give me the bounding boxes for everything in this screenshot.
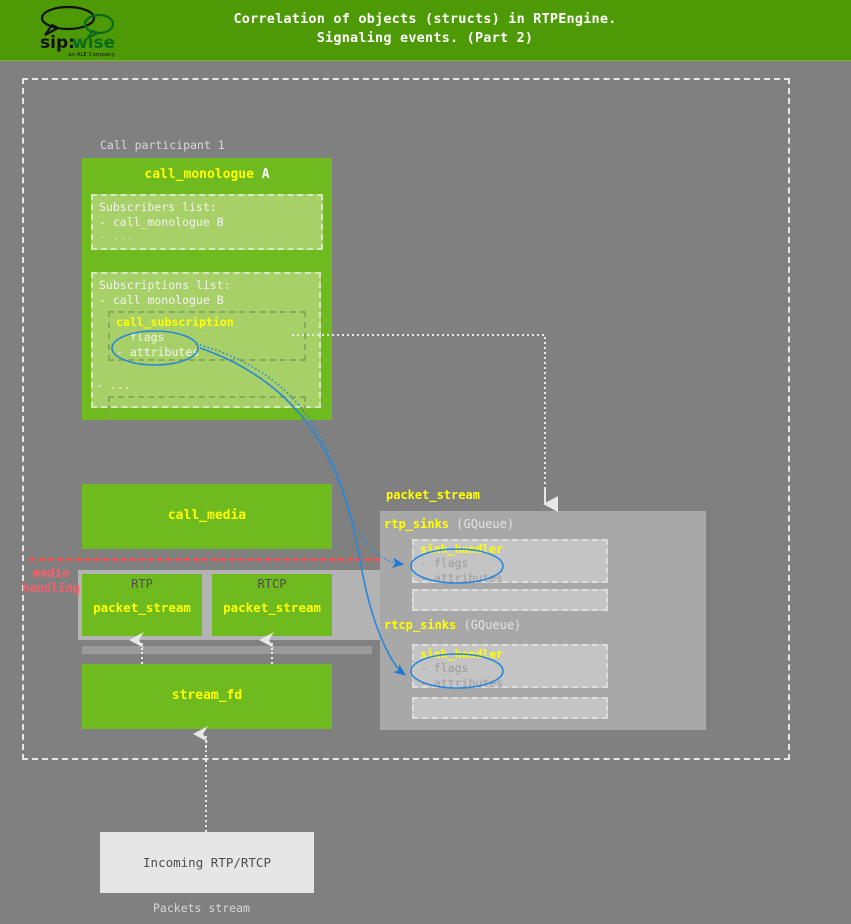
subscriptions-list-heading: Subscriptions list:	[99, 278, 313, 293]
rtcp-sinks-type: (GQueue)	[463, 618, 521, 632]
rtcp-packet-stream-box[interactable]: RTCP packet_stream	[212, 574, 332, 636]
subscriptions-list-item-1: - ...	[96, 378, 131, 392]
stream-fd-box[interactable]: stream_fd	[82, 664, 332, 729]
call-media-box[interactable]: call_media	[82, 484, 332, 549]
packets-stream-caption: Packets stream	[153, 901, 250, 915]
packet-stream-panel-caption: packet_stream	[386, 488, 480, 502]
rtp-sink-handler-field-flags: - flags	[420, 556, 600, 571]
logo-tagline: an ALE Company	[68, 52, 116, 58]
call-subscription-box[interactable]: call_subscription - flags - attributes	[108, 311, 306, 361]
call-subscription-placeholder-box	[108, 396, 306, 420]
media-band-baseline	[82, 646, 372, 654]
page-title: Correlation of objects (structs) in RTPE…	[160, 10, 690, 48]
call-subscription-field-flags: - flags	[110, 330, 304, 345]
rtcp-sink-handler-box[interactable]: sink_handler - flags - attributes	[412, 644, 608, 688]
call-monologue-title-text: call_monologue	[144, 167, 254, 182]
subscribers-list-heading: Subscribers list:	[99, 200, 315, 215]
speech-bubbles-icon: sip: wise an ALE Company	[30, 4, 138, 58]
rtp-sinks-heading: rtp_sinks (GQueue)	[384, 517, 514, 531]
media-handling-label: media handling	[20, 566, 82, 596]
rtcp-sinks-heading: rtcp_sinks (GQueue)	[384, 618, 521, 632]
rtp-sink-handler-field-attributes: - attributes	[420, 571, 600, 586]
page-title-line2: Signaling events. (Part 2)	[160, 29, 690, 48]
subscribers-list-panel: Subscribers list: - call_monologue B - .…	[91, 194, 323, 250]
incoming-rtp-rtcp-label: Incoming RTP/RTCP	[143, 855, 271, 870]
media-handling-divider	[30, 558, 380, 561]
media-handling-label-line2: handling	[20, 581, 82, 596]
call-subscription-field-attributes: - attributes	[110, 345, 304, 360]
rtcp-sink-handler-field-flags: - flags	[420, 661, 600, 676]
logo-text-sip: sip:	[40, 33, 75, 53]
rtcp-sinks-name: rtcp_sinks	[384, 618, 456, 632]
rtp-sink-handler-title: sink_handler	[420, 542, 600, 556]
page-header: sip: wise an ALE Company Correlation of …	[0, 0, 851, 61]
rtcp-packet-stream-title: packet_stream	[212, 600, 332, 615]
page-title-line1: Correlation of objects (structs) in RTPE…	[160, 10, 690, 29]
rtp-packet-stream-box[interactable]: RTP packet_stream	[82, 574, 202, 636]
incoming-rtp-rtcp-box: Incoming RTP/RTCP	[100, 832, 314, 893]
call-participant-caption: Call participant 1	[100, 138, 225, 152]
subscriptions-list-item-0: - call monologue B	[99, 293, 313, 308]
call-monologue-title: call_monologue A	[82, 167, 332, 182]
rtcp-sink-handler-placeholder	[412, 697, 608, 719]
subscribers-list-item-0: - call_monologue B	[99, 215, 315, 230]
logo-text-wise: wise	[72, 33, 115, 53]
rtcp-sink-handler-field-attributes: - attributes	[420, 676, 600, 691]
rtcp-proto-label: RTCP	[212, 577, 332, 591]
sipwise-logo: sip: wise an ALE Company	[30, 4, 138, 58]
call-monologue-title-suffix: A	[262, 167, 270, 182]
rtp-sinks-type: (GQueue)	[456, 517, 514, 531]
rtp-sink-handler-box[interactable]: sink_handler - flags - attributes	[412, 539, 608, 583]
media-handling-label-line1: media	[20, 566, 82, 581]
diagram-canvas: sip: wise an ALE Company Correlation of …	[0, 0, 851, 924]
call-subscription-title: call_subscription	[110, 313, 304, 330]
stream-fd-title: stream_fd	[82, 688, 332, 703]
rtp-sinks-name: rtp_sinks	[384, 517, 449, 531]
rtp-packet-stream-title: packet_stream	[82, 600, 202, 615]
subscribers-list-item-1: - ...	[99, 229, 315, 244]
rtp-proto-label: RTP	[82, 577, 202, 591]
call-media-title: call_media	[82, 508, 332, 523]
rtcp-sink-handler-title: sink_handler	[420, 647, 600, 661]
rtp-sink-handler-placeholder	[412, 589, 608, 611]
